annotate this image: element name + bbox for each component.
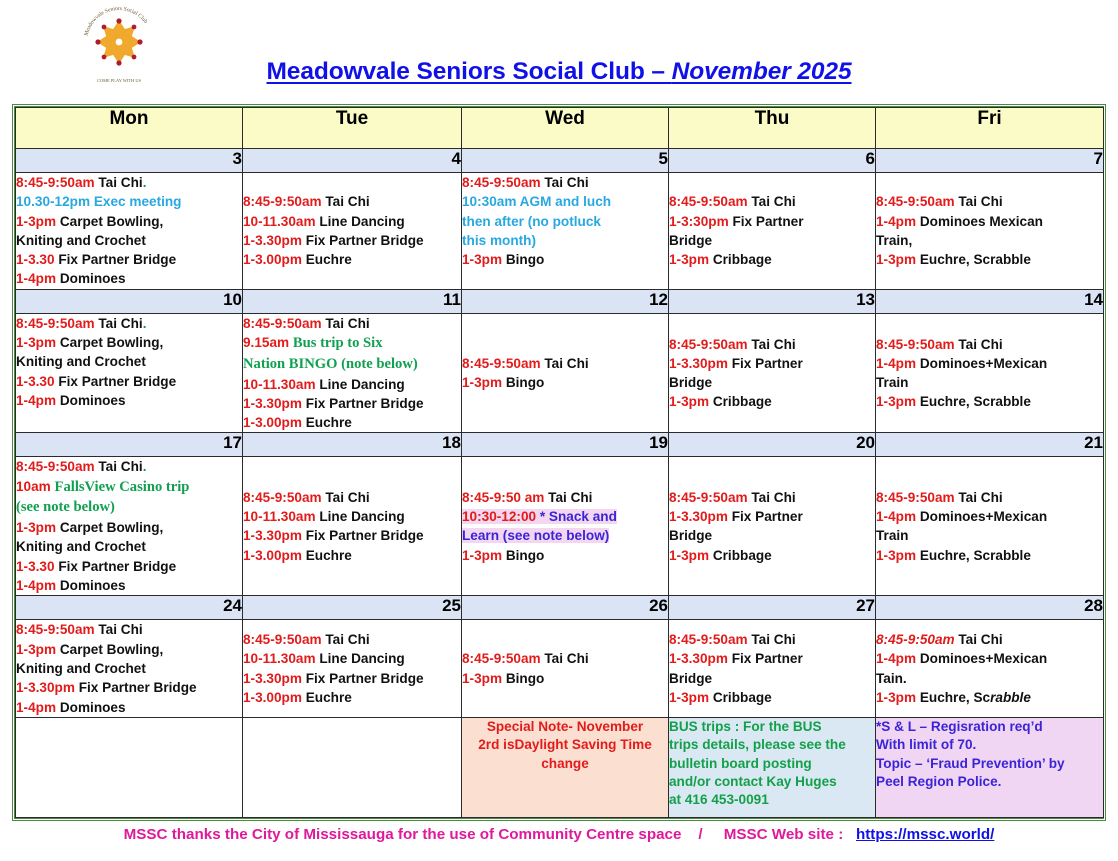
- footer-website-label: MSSC Web site :: [724, 826, 844, 843]
- note-line: and/or contact Kay Huges: [669, 773, 875, 791]
- event-text: 1-3.30pm: [243, 233, 306, 248]
- event-line: 1-3.00pm Euchre: [243, 250, 461, 269]
- event-text: Tai Chi: [325, 316, 369, 331]
- event-line: 1-3.30 Fix Partner Bridge: [16, 372, 242, 391]
- date-number-17[interactable]: 17: [16, 433, 243, 457]
- event-text: Tai Chi: [98, 622, 142, 637]
- event-text: Train,: [876, 233, 912, 248]
- note-line: bulletin board posting: [669, 755, 875, 773]
- event-line: 1-4pm Dominoes: [16, 391, 242, 410]
- event-line: 10am FallsView Casino trip: [16, 477, 242, 498]
- event-text: 1-3.30: [16, 374, 58, 389]
- event-line: 1-3.30 Fix Partner Bridge: [16, 250, 242, 269]
- event-line: 1-3:30pm Fix Partner: [669, 212, 875, 231]
- event-text: Carpet Bowling,: [60, 214, 163, 229]
- note-cell-3[interactable]: Special Note- November2rd isDaylight Sav…: [462, 717, 669, 817]
- event-line: Bridge: [669, 231, 875, 250]
- event-text: 1-3.30pm: [243, 396, 306, 411]
- event-text: 1-3pm: [876, 252, 920, 267]
- event-text: 8:45-9:50am: [462, 651, 544, 666]
- event-text: 1-3.30pm: [243, 671, 306, 686]
- event-text: 10.30-12pm Exec meeting: [16, 194, 181, 209]
- event-line: 1-3.30pm Fix Partner Bridge: [243, 394, 461, 413]
- note-line: at 416 453-0091: [669, 791, 875, 809]
- event-text: 8:45-9:50am: [16, 175, 98, 190]
- day-cell-4[interactable]: 8:45-9:50am Tai Chi10-11.30am Line Danci…: [243, 173, 462, 290]
- event-text: 1-3.00pm: [243, 415, 306, 430]
- event-text: Train: [876, 528, 908, 543]
- date-number-row: 2425262728: [16, 596, 1104, 620]
- event-text: 1-3:30pm: [669, 214, 732, 229]
- event-text: 1-3pm: [16, 214, 60, 229]
- event-text: Tai Chi: [98, 316, 142, 331]
- event-text: 1-3pm: [16, 335, 60, 350]
- event-line: 1-3.30pm Fix Partner: [669, 354, 875, 373]
- event-line: 8:45-9:50am Tai Chi: [462, 173, 668, 192]
- event-text: (see note below): [16, 499, 115, 515]
- event-text: Tai Chi: [751, 194, 795, 209]
- event-text: Bridge: [669, 671, 712, 686]
- weekday-header-tue: Tue: [243, 108, 462, 149]
- date-number-20[interactable]: 20: [669, 433, 876, 457]
- event-text: 1-3pm: [462, 548, 506, 563]
- event-text: 1-3.30pm: [243, 528, 306, 543]
- event-text: Fix Partner Bridge: [306, 396, 424, 411]
- date-number-13[interactable]: 13: [669, 289, 876, 313]
- calendar-page: Meadowvale Seniors Social Club: [0, 0, 1118, 861]
- event-line: 1-3.30pm Fix Partner Bridge: [16, 678, 242, 697]
- event-text: 1-3pm: [669, 252, 713, 267]
- event-line: 1-3.30pm Fix Partner Bridge: [243, 526, 461, 545]
- event-text: Cribbage: [713, 394, 772, 409]
- note-cell-2: [243, 717, 462, 817]
- date-number-4[interactable]: 4: [243, 149, 462, 173]
- event-text: 8:45-9:50am: [243, 632, 325, 647]
- event-line: 8:45-9:50am Tai Chi: [669, 630, 875, 649]
- event-line: 1-3pm Euchre, Scrabble: [876, 392, 1103, 411]
- footer-thanks: MSSC thanks the City of Mississauga for …: [124, 826, 682, 843]
- date-number-row: 34567: [16, 149, 1104, 173]
- weekday-header-thu: Thu: [669, 108, 876, 149]
- event-text: 8:45-9:50am: [462, 175, 544, 190]
- event-line: 1-3.30 Fix Partner Bridge: [16, 557, 242, 576]
- date-number-row: 1011121314: [16, 289, 1104, 313]
- event-text: Bingo: [506, 252, 545, 267]
- date-number-25[interactable]: 25: [243, 596, 462, 620]
- event-text: 8:45-9:50am: [243, 316, 325, 331]
- event-line: 8:45-9:50am Tai Chi: [669, 335, 875, 354]
- event-text: Kniting and Crochet: [16, 233, 146, 248]
- event-line: 10.30-12pm Exec meeting: [16, 192, 242, 211]
- event-text: Bingo: [506, 375, 545, 390]
- event-line: Train: [876, 373, 1103, 392]
- event-text: Euchre: [306, 690, 352, 705]
- event-text: 1-3.30pm: [669, 651, 732, 666]
- week-content-row: 8:45-9:50am Tai Chi.10am FallsView Casin…: [16, 457, 1104, 596]
- event-text: .: [143, 459, 147, 474]
- event-line: 8:45-9:50am Tai Chi: [669, 488, 875, 507]
- date-number-27[interactable]: 27: [669, 596, 876, 620]
- event-text: Carpet Bowling,: [60, 520, 163, 535]
- event-text: Tai Chi: [751, 490, 795, 505]
- event-line: Nation BINGO (note below): [243, 354, 461, 375]
- event-line: Kniting and Crochet: [16, 659, 242, 678]
- event-line: 1-3pm Bingo: [462, 373, 668, 392]
- day-cell-27[interactable]: 8:45-9:50am Tai Chi1-3.30pm Fix PartnerB…: [669, 620, 876, 717]
- event-text: Tai Chi: [544, 651, 588, 666]
- event-text: 8:45-9:50am: [243, 490, 325, 505]
- event-text: 1-3.30: [16, 252, 58, 267]
- event-line: 1-4pm Dominoes: [16, 269, 242, 288]
- event-text: 9.15am: [243, 335, 293, 350]
- event-line: 1-4pm Dominoes+Mexican: [876, 507, 1103, 526]
- event-line: 8:45-9:50am Tai Chi: [876, 488, 1103, 507]
- day-cell-17[interactable]: 8:45-9:50am Tai Chi.10am FallsView Casin…: [16, 457, 243, 596]
- event-text: 8:45-9:50am: [669, 194, 751, 209]
- event-text: Tai Chi: [325, 632, 369, 647]
- event-line: 8:45-9:50am Tai Chi: [669, 192, 875, 211]
- event-line: 8:45-9:50am Tai Chi: [16, 620, 242, 639]
- note-line: trips details, please see the: [669, 736, 875, 754]
- event-text: Tai Chi: [544, 175, 588, 190]
- day-cell-5[interactable]: 8:45-9:50am Tai Chi10:30am AGM and lucht…: [462, 173, 669, 290]
- week-content-row: 8:45-9:50am Tai Chi.10.30-12pm Exec meet…: [16, 173, 1104, 290]
- event-line: this month): [462, 231, 668, 250]
- event-text: 8:45-9:50am: [16, 622, 98, 637]
- event-line: 1-3pm Carpet Bowling,: [16, 640, 242, 659]
- event-text: 8:45-9:50 am: [462, 490, 548, 505]
- event-text: Dominoes: [60, 393, 126, 408]
- day-cell-20[interactable]: 8:45-9:50am Tai Chi1-3.30pm Fix PartnerB…: [669, 457, 876, 596]
- event-text: Tai Chi: [325, 490, 369, 505]
- day-cell-28[interactable]: 8:45-9:50am Tai Chi1-4pm Dominoes+Mexica…: [876, 620, 1104, 717]
- event-text: Euchre: [306, 252, 352, 267]
- event-text: 10-11.30am: [243, 377, 319, 392]
- note-line: change: [462, 755, 668, 773]
- event-text: 1-4pm: [16, 271, 60, 286]
- day-cell-6[interactable]: 8:45-9:50am Tai Chi1-3:30pm Fix PartnerB…: [669, 173, 876, 290]
- date-number-24[interactable]: 24: [16, 596, 243, 620]
- event-text: 8:45-9:50am: [669, 632, 751, 647]
- event-text: Tai Chi: [958, 194, 1002, 209]
- event-text: Kniting and Crochet: [16, 661, 146, 676]
- event-text: Tai Chi: [325, 194, 369, 209]
- event-text: Kniting and Crochet: [16, 539, 146, 554]
- event-line: 1-4pm Dominoes+Mexican: [876, 354, 1103, 373]
- event-text: 1-4pm: [876, 214, 920, 229]
- event-line: 1-3pm Carpet Bowling,: [16, 212, 242, 231]
- week-content-row: 8:45-9:50am Tai Chi.1-3pm Carpet Bowling…: [16, 313, 1104, 433]
- event-line: 1-3.00pm Euchre: [243, 546, 461, 565]
- event-line: Bridge: [669, 373, 875, 392]
- event-text: Bingo: [506, 548, 545, 563]
- page-header: Meadowvale Seniors Social Club: [0, 0, 1118, 100]
- event-text: Euchre, Scrabble: [920, 252, 1031, 267]
- event-text: Tai Chi: [98, 459, 142, 474]
- event-line: 8:45-9:50am Tai Chi: [876, 192, 1103, 211]
- note-line: Topic – ‘Fraud Prevention’ by: [876, 755, 1103, 773]
- date-number-19[interactable]: 19: [462, 433, 669, 457]
- event-text: 1-4pm: [876, 651, 920, 666]
- event-text: 1-3.00pm: [243, 252, 306, 267]
- event-text: Cribbage: [713, 548, 772, 563]
- event-text: .: [143, 175, 147, 190]
- event-text: Fix Partner Bridge: [58, 252, 176, 267]
- event-line: 8:45-9:50 am Tai Chi: [462, 488, 668, 507]
- event-line: Kniting and Crochet: [16, 537, 242, 556]
- event-text: Dominoes+Mexican: [920, 509, 1047, 524]
- page-footer: MSSC thanks the City of Mississauga for …: [0, 826, 1118, 843]
- event-text: .: [143, 316, 147, 331]
- event-line: Bridge: [669, 526, 875, 545]
- weekday-header-mon: Mon: [16, 108, 243, 149]
- date-number-10[interactable]: 10: [16, 289, 243, 313]
- date-number-28[interactable]: 28: [876, 596, 1104, 620]
- event-text: 1-3.30pm: [16, 680, 79, 695]
- event-text: Tain.: [876, 671, 907, 686]
- event-text: 1-4pm: [16, 700, 60, 715]
- day-cell-14[interactable]: 8:45-9:50am Tai Chi1-4pm Dominoes+Mexica…: [876, 313, 1104, 433]
- event-line: 8:45-9:50am Tai Chi: [462, 354, 668, 373]
- date-number-6[interactable]: 6: [669, 149, 876, 173]
- event-text: 8:45-9:50am: [876, 490, 958, 505]
- event-text: 1-3pm: [16, 642, 60, 657]
- event-line: 1-3.30pm Fix Partner: [669, 507, 875, 526]
- event-text: Tai Chi: [548, 490, 592, 505]
- event-text: Dominoes: [60, 700, 126, 715]
- event-line: 10-11.30am Line Dancing: [243, 375, 461, 394]
- event-text: 1-3.30pm: [669, 509, 732, 524]
- event-line: 10:30am AGM and luch: [462, 192, 668, 211]
- event-text: Fix Partner: [732, 356, 803, 371]
- event-text: Fix Partner Bridge: [58, 559, 176, 574]
- event-text: 8:45-9:50am: [876, 194, 958, 209]
- weekday-header-row: MonTueWedThuFri: [16, 108, 1104, 149]
- event-text: Euchre, Scrabble: [920, 548, 1031, 563]
- date-number-row: 1718192021: [16, 433, 1104, 457]
- event-line: 1-4pm Dominoes+Mexican: [876, 649, 1103, 668]
- note-line: *S & L – Regisration req’d: [876, 718, 1103, 736]
- date-number-12[interactable]: 12: [462, 289, 669, 313]
- note-cell-1: [16, 717, 243, 817]
- event-line: 8:45-9:50am Tai Chi: [243, 314, 461, 333]
- event-text: Nation BINGO (note below): [243, 356, 418, 372]
- day-cell-21[interactable]: 8:45-9:50am Tai Chi1-4pm Dominoes+Mexica…: [876, 457, 1104, 596]
- footer-website-link[interactable]: https://mssc.world/: [856, 826, 994, 843]
- event-text: Dominoes Mexican: [920, 214, 1043, 229]
- event-line: 10-11.30am Line Dancing: [243, 649, 461, 668]
- event-text: Bridge: [669, 375, 712, 390]
- event-text: Euchre, Scrabble: [920, 394, 1031, 409]
- event-line: 1-3.30pm Fix Partner: [669, 649, 875, 668]
- event-text: FallsView Casino trip: [55, 479, 190, 495]
- day-cell-18[interactable]: 8:45-9:50am Tai Chi10-11.30am Line Danci…: [243, 457, 462, 596]
- event-line: 8:45-9:50am Tai Chi.: [16, 314, 242, 333]
- event-line: Train,: [876, 231, 1103, 250]
- event-text: Train: [876, 375, 908, 390]
- event-text: 1-3.30pm: [669, 356, 732, 371]
- date-number-26[interactable]: 26: [462, 596, 669, 620]
- event-line: 1-3.30pm Fix Partner Bridge: [243, 669, 461, 688]
- event-text: 1-4pm: [16, 393, 60, 408]
- event-text: Dominoes+Mexican: [920, 651, 1047, 666]
- event-line: Kniting and Crochet: [16, 231, 242, 250]
- event-text: Euchre: [306, 415, 352, 430]
- event-text: 1-3.30: [16, 559, 58, 574]
- event-text: Fix Partner: [732, 651, 803, 666]
- event-text: Bridge: [669, 233, 712, 248]
- note-line: 2rd isDaylight Saving Time: [462, 736, 668, 754]
- event-text: Kniting and Crochet: [16, 354, 146, 369]
- event-line: Train: [876, 526, 1103, 545]
- event-line: 8:45-9:50am Tai Chi.: [16, 457, 242, 476]
- event-line: 8:45-9:50am Tai Chi: [243, 630, 461, 649]
- event-text: Tai Chi: [98, 175, 142, 190]
- event-text: Fix Partner Bridge: [306, 233, 424, 248]
- event-line: 1-3pm Bingo: [462, 250, 668, 269]
- event-line: Learn (see note below): [462, 526, 668, 545]
- note-line: BUS trips : For the BUS: [669, 718, 875, 736]
- date-number-7[interactable]: 7: [876, 149, 1104, 173]
- event-text: then after (no potluck: [462, 214, 601, 229]
- event-text: 1-3pm: [462, 671, 506, 686]
- event-line: 1-3pm Cribbage: [669, 546, 875, 565]
- event-text: Tai Chi: [544, 356, 588, 371]
- event-line: 1-3.00pm Euchre: [243, 688, 461, 707]
- event-text: 8:45-9:50am: [669, 490, 751, 505]
- event-line: Kniting and Crochet: [16, 352, 242, 371]
- day-cell-24[interactable]: 8:45-9:50am Tai Chi1-3pm Carpet Bowling,…: [16, 620, 243, 717]
- event-line: 1-3pm Carpet Bowling,: [16, 518, 242, 537]
- day-cell-25[interactable]: 8:45-9:50am Tai Chi10-11.30am Line Danci…: [243, 620, 462, 717]
- event-line: 1-3pm Cribbage: [669, 392, 875, 411]
- day-cell-10[interactable]: 8:45-9:50am Tai Chi.1-3pm Carpet Bowling…: [16, 313, 243, 433]
- event-text: Bridge: [669, 528, 712, 543]
- event-line: 1-4pm Dominoes Mexican: [876, 212, 1103, 231]
- event-text: 1-4pm: [876, 356, 920, 371]
- event-text: Tai Chi: [751, 337, 795, 352]
- event-line: 1-3pm Bingo: [462, 546, 668, 565]
- event-text: Cribbage: [713, 690, 772, 705]
- event-text: Euchre, Sc: [920, 690, 990, 705]
- event-line: (see note below): [16, 497, 242, 518]
- footer-separator: /: [686, 826, 720, 843]
- event-text: 10:30-12:00: [462, 509, 540, 524]
- event-text: 10-11.30am: [243, 214, 319, 229]
- event-text: Fix Partner Bridge: [306, 671, 424, 686]
- date-number-3[interactable]: 3: [16, 149, 243, 173]
- event-text: 8:45-9:50am: [876, 337, 958, 352]
- date-number-14[interactable]: 14: [876, 289, 1104, 313]
- event-line: then after (no potluck: [462, 212, 668, 231]
- note-cell-5[interactable]: *S & L – Regisration req’dWith limit of …: [876, 717, 1104, 817]
- event-text: Dominoes: [60, 578, 126, 593]
- day-cell-19[interactable]: 8:45-9:50 am Tai Chi10:30-12:00 * Snack …: [462, 457, 669, 596]
- note-line: With limit of 70.: [876, 736, 1103, 754]
- event-text: 1-3.00pm: [243, 690, 306, 705]
- event-text: 10am: [16, 479, 55, 494]
- day-cell-11[interactable]: 8:45-9:50am Tai Chi9.15am Bus trip to Si…: [243, 313, 462, 433]
- event-line: Tain.: [876, 669, 1103, 688]
- event-text: Fix Partner Bridge: [79, 680, 197, 695]
- event-text: Euchre: [306, 548, 352, 563]
- event-text: 1-3pm: [876, 690, 920, 705]
- event-text: Learn (see note below): [462, 528, 609, 543]
- event-text: 1-3pm: [462, 252, 506, 267]
- event-text: Tai Chi: [958, 490, 1002, 505]
- day-cell-7[interactable]: 8:45-9:50am Tai Chi1-4pm Dominoes Mexica…: [876, 173, 1104, 290]
- event-line: 1-3.30pm Fix Partner Bridge: [243, 231, 461, 250]
- event-text: Bus trip to Six: [293, 335, 383, 351]
- notes-row: Special Note- November2rd isDaylight Sav…: [16, 717, 1104, 817]
- event-text: Line Dancing: [319, 214, 404, 229]
- date-number-18[interactable]: 18: [243, 433, 462, 457]
- week-content-row: 8:45-9:50am Tai Chi1-3pm Carpet Bowling,…: [16, 620, 1104, 717]
- event-text: 8:45-9:50am: [876, 632, 958, 647]
- date-number-5[interactable]: 5: [462, 149, 669, 173]
- event-text: 1-3pm: [669, 394, 713, 409]
- note-cell-4[interactable]: BUS trips : For the BUStrips details, pl…: [669, 717, 876, 817]
- day-cell-12[interactable]: 8:45-9:50am Tai Chi1-3pm Bingo: [462, 313, 669, 433]
- event-text: Line Dancing: [319, 651, 404, 666]
- event-text: 1-3pm: [669, 548, 713, 563]
- event-text: 8:45-9:50am: [462, 356, 544, 371]
- page-title: Meadowvale Seniors Social Club – Novembe…: [0, 58, 1118, 86]
- note-line: Special Note- November: [462, 718, 668, 736]
- event-text: Dominoes: [60, 271, 126, 286]
- page-title-month: November 2025: [672, 58, 852, 85]
- event-text: 1-3.00pm: [243, 548, 306, 563]
- event-text: 8:45-9:50am: [669, 337, 751, 352]
- event-text: 1-4pm: [16, 578, 60, 593]
- event-line: 8:45-9:50am Tai Chi: [243, 192, 461, 211]
- event-line: 8:45-9:50am Tai Chi: [876, 335, 1103, 354]
- event-line: 8:45-9:50am Tai Chi: [876, 630, 1103, 649]
- event-line: 1-3pm Cribbage: [669, 688, 875, 707]
- event-line: 10:30-12:00 * Snack and: [462, 507, 668, 526]
- event-line: 1-3pm Euchre, Scrabble: [876, 250, 1103, 269]
- event-text: 8:45-9:50am: [16, 316, 98, 331]
- event-line: 1-4pm Dominoes: [16, 698, 242, 717]
- day-cell-3[interactable]: 8:45-9:50am Tai Chi.10.30-12pm Exec meet…: [16, 173, 243, 290]
- day-cell-26[interactable]: 8:45-9:50am Tai Chi1-3pm Bingo: [462, 620, 669, 717]
- event-text: 10-11.30am: [243, 651, 319, 666]
- event-text: 8:45-9:50am: [16, 459, 98, 474]
- event-text: 1-3pm: [16, 520, 60, 535]
- event-text: Dominoes+Mexican: [920, 356, 1047, 371]
- event-line: 1-3pm Bingo: [462, 669, 668, 688]
- event-text: Carpet Bowling,: [60, 335, 163, 350]
- event-text: Fix Partner Bridge: [306, 528, 424, 543]
- date-number-11[interactable]: 11: [243, 289, 462, 313]
- event-text: 10-11.30am: [243, 509, 319, 524]
- event-line: 10-11.30am Line Dancing: [243, 212, 461, 231]
- event-text: 1-4pm: [876, 509, 920, 524]
- weekday-header-wed: Wed: [462, 108, 669, 149]
- event-line: 1-3pm Cribbage: [669, 250, 875, 269]
- calendar-table-wrapper: MonTueWedThuFri 345678:45-9:50am Tai Chi…: [12, 104, 1106, 821]
- event-text: Tai Chi: [958, 337, 1002, 352]
- event-text: Fix Partner Bridge: [58, 374, 176, 389]
- event-text: 1-3pm: [462, 375, 506, 390]
- event-text: 8:45-9:50am: [243, 194, 325, 209]
- event-line: 1-3pm Carpet Bowling,: [16, 333, 242, 352]
- date-number-21[interactable]: 21: [876, 433, 1104, 457]
- day-cell-13[interactable]: 8:45-9:50am Tai Chi1-3.30pm Fix PartnerB…: [669, 313, 876, 433]
- event-text: Fix Partner: [732, 214, 803, 229]
- event-line: 1-4pm Dominoes: [16, 576, 242, 595]
- event-text: Tai Chi: [751, 632, 795, 647]
